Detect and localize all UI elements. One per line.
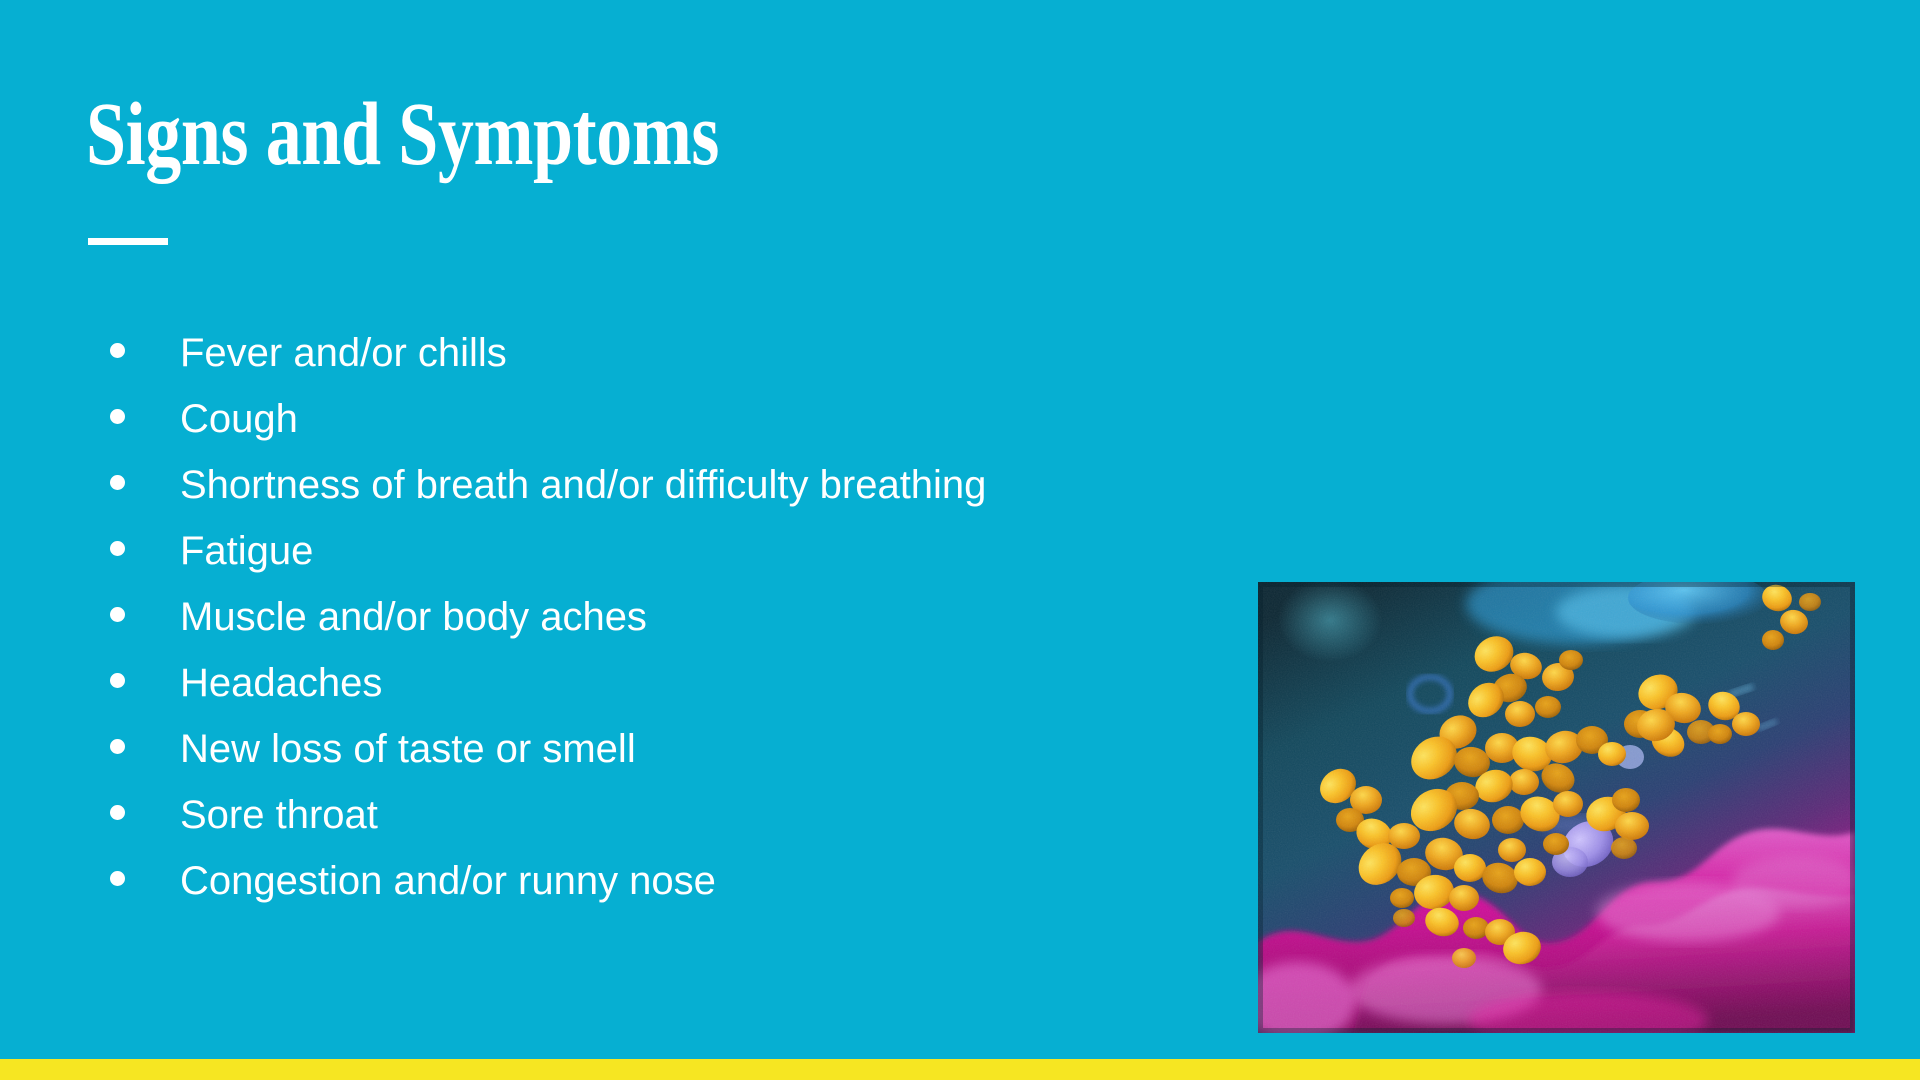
presentation-slide: Signs and Symptoms Fever and/or chills C… (0, 0, 1920, 1080)
list-item: Sore throat (86, 780, 1206, 846)
list-item-label: New loss of taste or smell (180, 727, 636, 772)
micrograph-canvas (1258, 582, 1855, 1033)
list-item-label: Sore throat (180, 793, 378, 838)
virus-micrograph-image (1258, 582, 1855, 1033)
list-item: Headaches (86, 648, 1206, 714)
list-item: Congestion and/or runny nose (86, 846, 1206, 912)
list-item-label: Congestion and/or runny nose (180, 859, 716, 904)
list-item-label: Cough (180, 397, 298, 442)
list-item: New loss of taste or smell (86, 714, 1206, 780)
page-title: Signs and Symptoms (86, 86, 966, 184)
bullet-dot-icon (110, 541, 125, 556)
symptom-list: Fever and/or chills Cough Shortness of b… (86, 318, 1206, 912)
list-item: Fever and/or chills (86, 318, 1206, 384)
bullet-dot-icon (110, 607, 125, 622)
list-item-label: Headaches (180, 661, 382, 706)
list-item: Muscle and/or body aches (86, 582, 1206, 648)
list-item-label: Muscle and/or body aches (180, 595, 647, 640)
bullet-dot-icon (110, 805, 125, 820)
title-block: Signs and Symptoms (86, 86, 1186, 184)
list-item: Shortness of breath and/or difficulty br… (86, 450, 1206, 516)
list-item: Cough (86, 384, 1206, 450)
list-item-label: Fatigue (180, 529, 313, 574)
bullet-dot-icon (110, 673, 125, 688)
bullet-dot-icon (110, 871, 125, 886)
list-item-label: Shortness of breath and/or difficulty br… (180, 463, 986, 508)
bottom-accent-bar (0, 1059, 1920, 1080)
list-item-label: Fever and/or chills (180, 331, 507, 376)
bullet-dot-icon (110, 475, 125, 490)
bullet-dot-icon (110, 409, 125, 424)
title-underline-rule (88, 238, 168, 245)
bullet-dot-icon (110, 739, 125, 754)
bullet-dot-icon (110, 343, 125, 358)
list-item: Fatigue (86, 516, 1206, 582)
